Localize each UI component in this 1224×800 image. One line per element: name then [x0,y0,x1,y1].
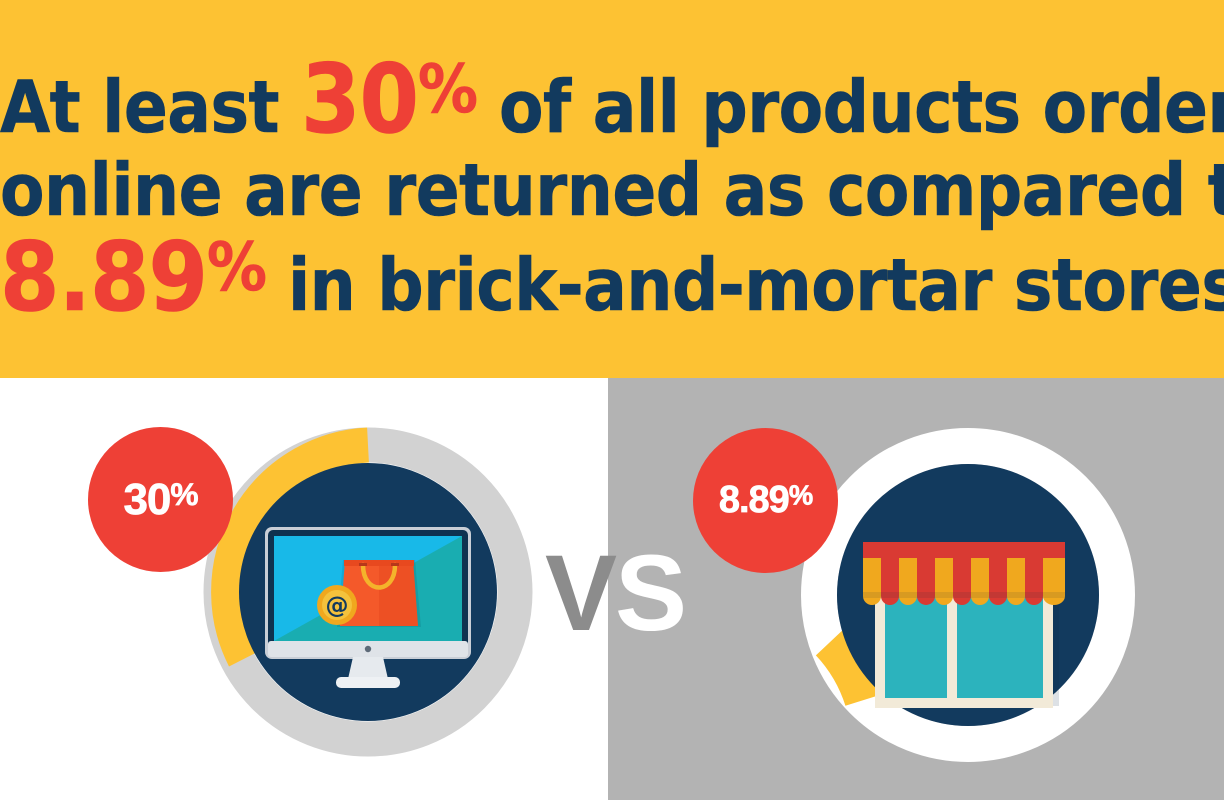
svg-text:@: @ [326,593,349,619]
headline-line-1: At least 30% of all products ordered [0,52,1224,150]
headline-banner: At least 30% of all products ordered onl… [0,0,1224,378]
versus-label: VS [545,534,675,654]
headline-text: At least 30% of all products ordered onl… [0,52,1224,328]
headline-stat-store-value: 8.89 [0,223,207,333]
online-percent-badge-value: 30 [123,475,170,524]
store-percent-badge-value: 8.89 [719,479,789,521]
online-percent-badge-text: 30% [123,475,197,525]
headline-stat-online: 30% [301,45,477,155]
online-percent-badge: 30% [88,427,233,572]
headline-line-1-prefix: At least [0,65,301,149]
store-percent-badge: 8.89% [693,428,838,573]
versus-letter-v: V [545,532,615,653]
infographic-canvas: At least 30% of all products ordered onl… [0,0,1224,800]
headline-stat-store: 8.89% [0,223,266,333]
store-percent-badge-symbol: % [789,479,812,510]
headline-line-2: online are returned as compared to [0,153,1224,227]
store-percent-badge-text: 8.89% [719,479,812,522]
headline-line-3-suffix: in brick-and-mortar stores [266,243,1224,327]
headline-line-1-suffix: of all products ordered [477,65,1224,149]
versus-letter-s: S [615,532,685,653]
headline-stat-online-value: 30 [301,45,418,155]
brick-and-mortar-returns-donut [801,428,1135,762]
storefront-icon [863,542,1065,708]
online-returns-donut: @ [203,427,533,757]
headline-stat-store-percent: % [207,228,266,306]
headline-stat-online-percent: % [418,50,477,128]
online-percent-badge-symbol: % [170,476,197,512]
headline-line-3: 8.89% in brick-and-mortar stores [0,230,1224,328]
